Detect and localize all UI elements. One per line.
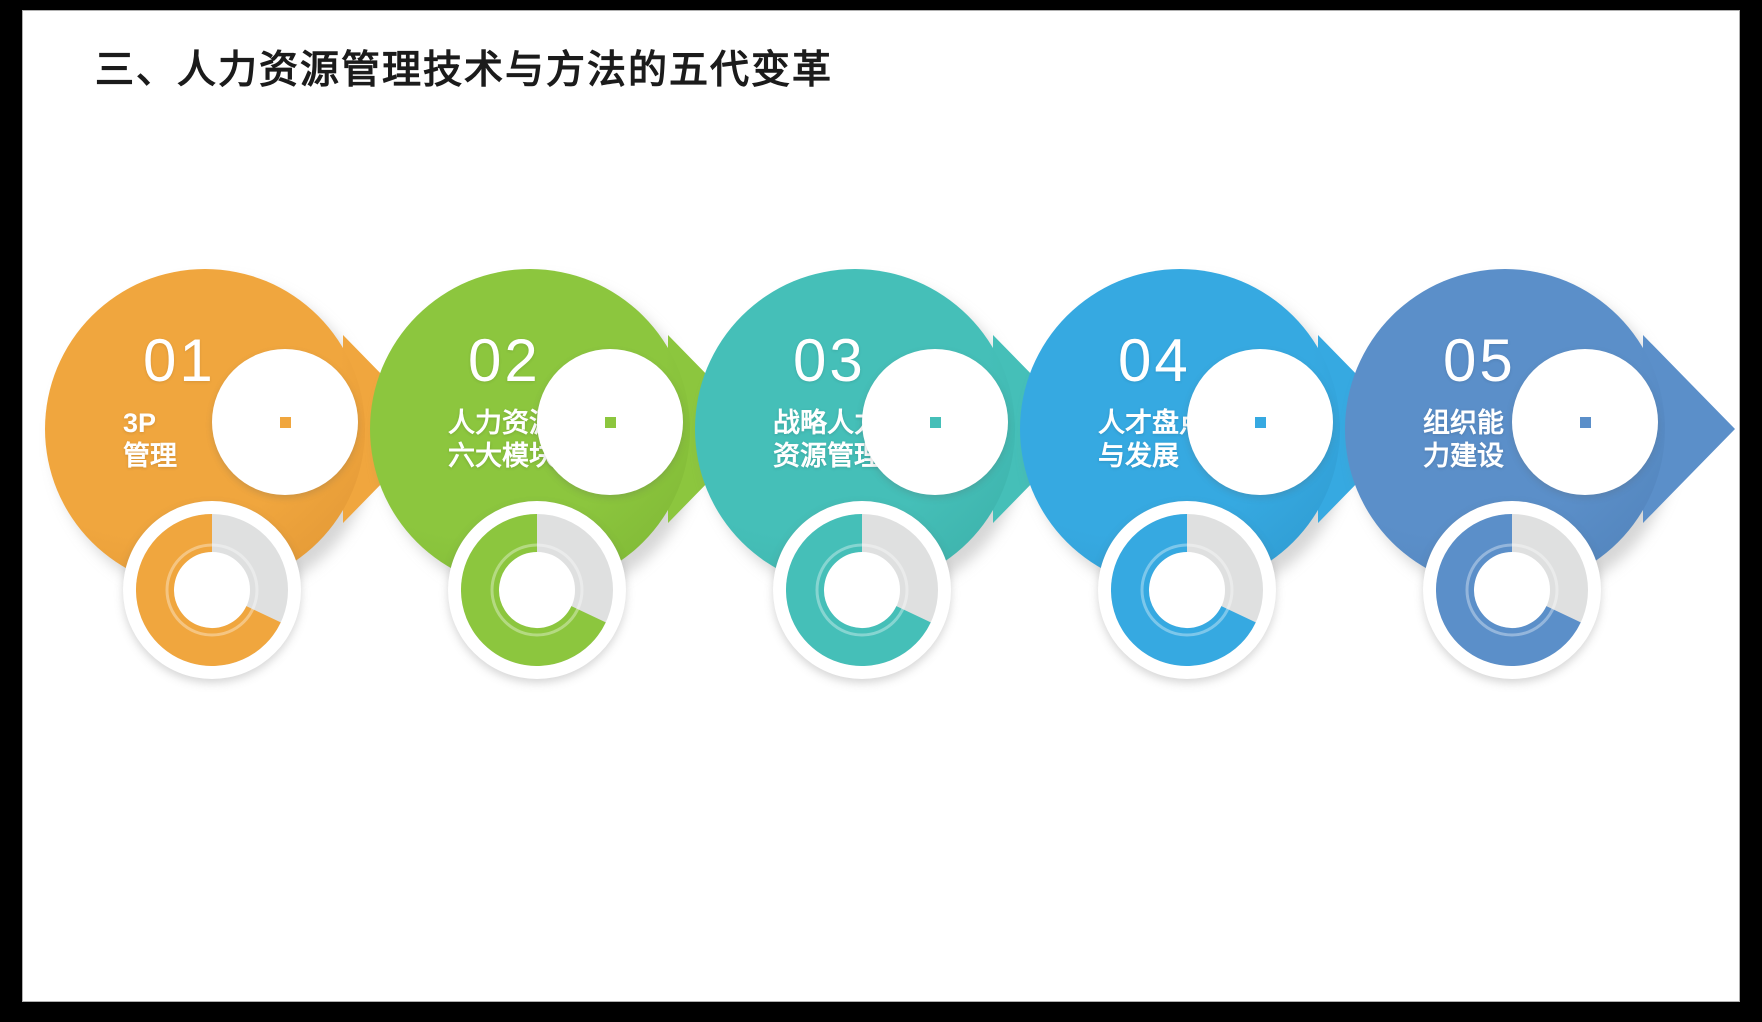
gauge-center-hole <box>179 557 245 623</box>
step-number-02: 02 <box>468 331 541 391</box>
step-gauge-01 <box>123 501 301 679</box>
step-icon-circle-02[interactable] <box>537 349 683 495</box>
step-center-dot-icon <box>1580 417 1591 428</box>
step-label-01: 3P管理 <box>123 407 177 473</box>
step-gauge-05 <box>1423 501 1601 679</box>
step-label-05: 组织能力建设 <box>1423 407 1504 473</box>
gauge-center-hole <box>1154 557 1220 623</box>
step-gauge-04 <box>1098 501 1276 679</box>
gauge-center-hole <box>1479 557 1545 623</box>
step-label-line1: 组织能 <box>1423 407 1504 440</box>
step-number-05: 05 <box>1443 331 1516 391</box>
step-center-dot-icon <box>280 417 291 428</box>
step-icon-circle-01[interactable] <box>212 349 358 495</box>
step-label-line2: 力建设 <box>1423 440 1504 473</box>
step-number-01: 01 <box>143 331 216 391</box>
step-number-03: 03 <box>793 331 866 391</box>
step-icon-circle-03[interactable] <box>862 349 1008 495</box>
gauge-center-hole <box>504 557 570 623</box>
step-center-dot-icon <box>605 417 616 428</box>
step-label-line1: 3P <box>123 407 177 440</box>
step-gauge-03 <box>773 501 951 679</box>
gauge-center-hole <box>829 557 895 623</box>
step-label-line2: 管理 <box>123 440 177 473</box>
slide-frame: 三、人力资源管理技术与方法的五代变革 013P管理02人力资源六大模块03战略人… <box>22 10 1740 1002</box>
step-icon-circle-04[interactable] <box>1187 349 1333 495</box>
step-number-04: 04 <box>1118 331 1191 391</box>
step-gauge-02 <box>448 501 626 679</box>
step-icon-circle-05[interactable] <box>1512 349 1658 495</box>
step-center-dot-icon <box>1255 417 1266 428</box>
step-center-dot-icon <box>930 417 941 428</box>
five-step-process-diagram: 013P管理02人力资源六大模块03战略人力资源管理04人才盘点与发展05组织能… <box>23 11 1740 1002</box>
